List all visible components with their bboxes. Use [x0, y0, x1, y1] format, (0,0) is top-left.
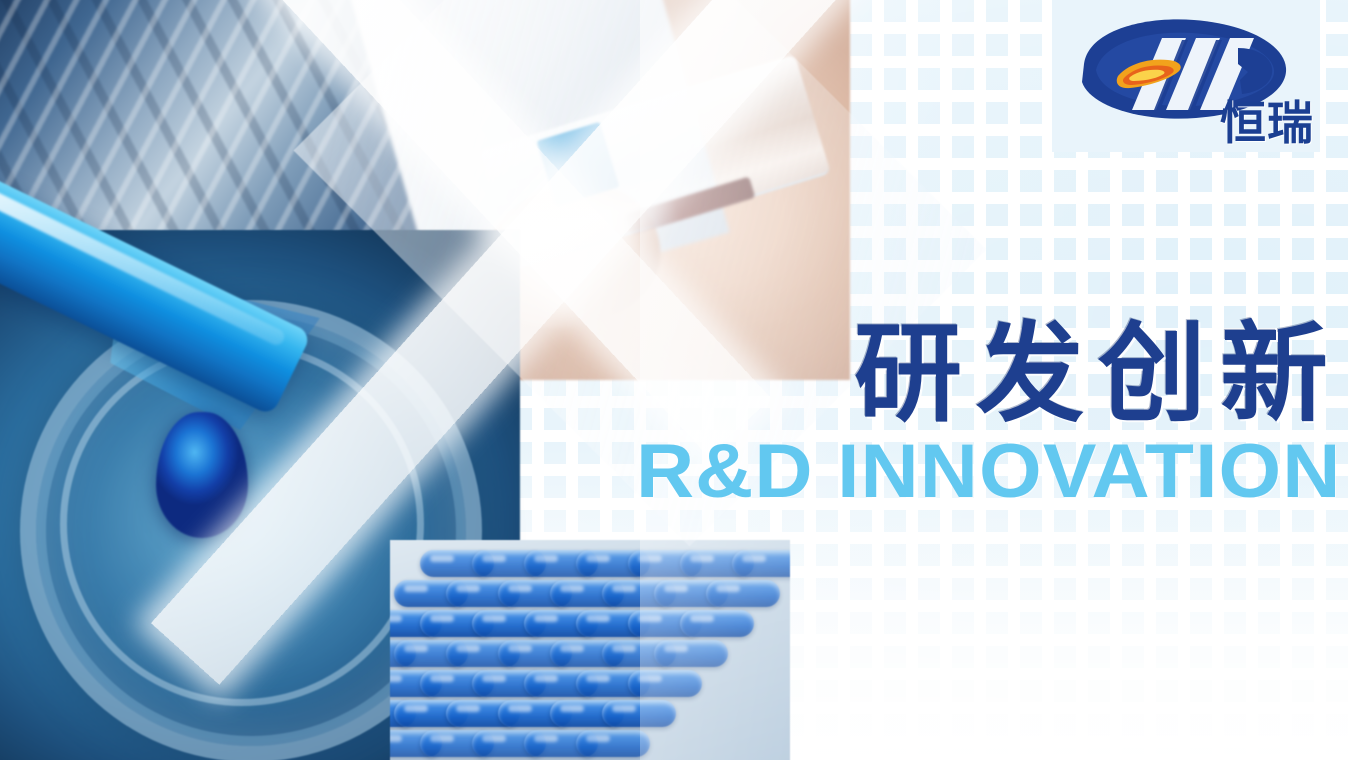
logo-brand-cn: 恒瑞 [1220, 100, 1314, 146]
page-subtitle-en: R&D INNOVATION [636, 434, 1344, 510]
blue-liquid-drop [156, 412, 248, 538]
rd-innovation-banner: 研发创新 R&D INNOVATION [0, 0, 1350, 760]
logo-plate[interactable]: 恒瑞 [1052, 0, 1320, 152]
bottom-fade [0, 640, 980, 760]
headline-block: 研发创新 R&D INNOVATION [676, 320, 1344, 510]
page-title-cn: 研发创新 [676, 320, 1344, 428]
